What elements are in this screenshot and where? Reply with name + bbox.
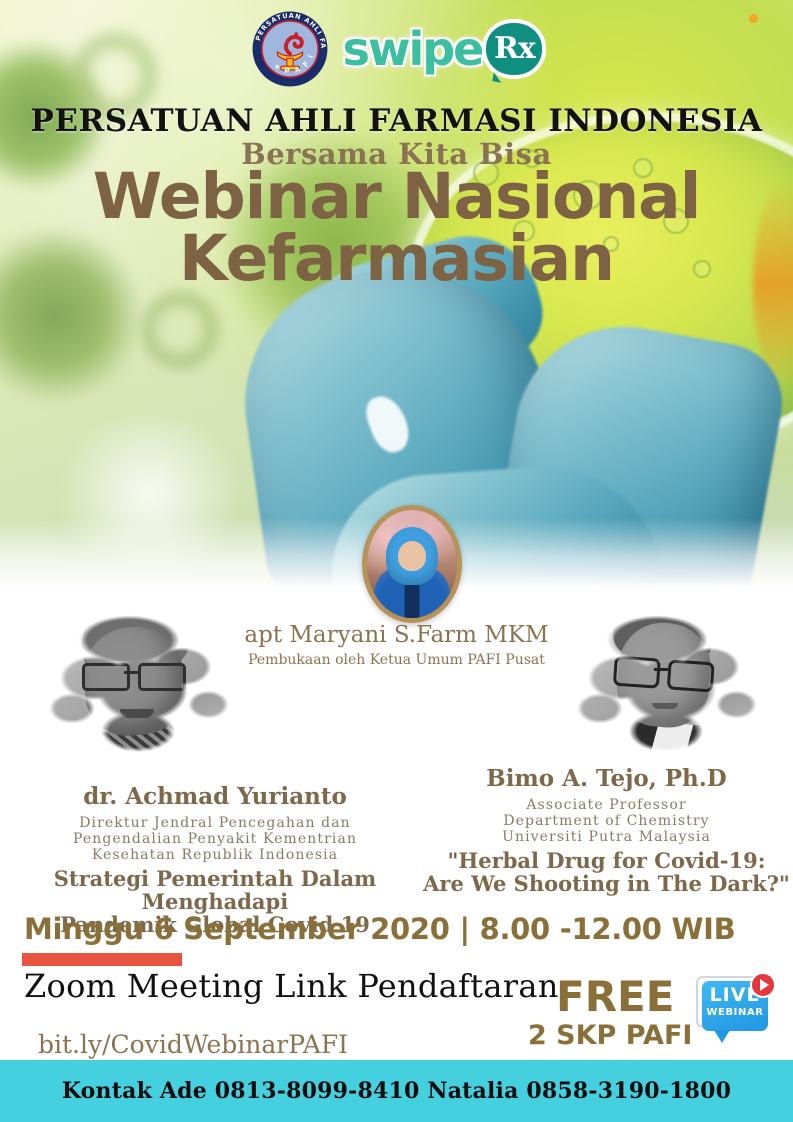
speaker-portrait-achmad-yurianto [28, 583, 248, 773]
brush-mask [556, 583, 776, 773]
speaker-info-right: Bimo A. Tejo, Ph.D Associate Professor D… [420, 765, 793, 895]
event-datetime: Minggu 6 September 2020 | 8.00 -12.00 WI… [24, 912, 735, 946]
main-title-line-2: Kefarmasian [0, 228, 793, 290]
glasses-bridge [124, 671, 140, 674]
page-title: Webinar Nasional Kefarmasian [0, 166, 793, 291]
topic-line: Are We Shooting in The Dark?" [420, 872, 793, 895]
topic-line: Strategi Pemerintah Dalam Menghadapi [0, 867, 430, 913]
speaker-name: dr. Achmad Yurianto [0, 783, 430, 810]
bacteria-blob-icon [140, 290, 220, 370]
live-badge-bottom-label: WEBINAR [702, 1008, 768, 1018]
glasses-icon [82, 663, 186, 685]
speaker-affiliation: Associate Professor Department of Chemis… [420, 797, 793, 846]
glasses-bridge [654, 668, 668, 671]
brush-mask [28, 583, 248, 773]
registration-link[interactable]: bit.ly/CovidWebinarPAFI [38, 1030, 348, 1059]
webinar-poster: PERSATUAN AHLI FARMASI INDONESIA ★ P A F… [0, 0, 793, 1122]
swipe-wordmark: swipe [343, 26, 483, 72]
free-badge: FREE [556, 972, 674, 1021]
contact-text: Kontak Ade 0813-8099-8410 Natalia 0858-3… [62, 1078, 731, 1104]
speaker-portrait-bimo-tejo [556, 583, 776, 773]
moderator-hijab [386, 527, 438, 585]
speaker-mouth [120, 709, 154, 718]
affiliation-line: Department of Chemistry [420, 813, 793, 829]
red-accent-bar [22, 953, 182, 966]
rx-label: Rx [494, 34, 535, 64]
topic-line: "Herbal Drug for Covid-19: [420, 849, 793, 872]
speaker-mouth [652, 703, 678, 709]
live-webinar-badge-icon: LIVE WEBINAR [692, 972, 778, 1046]
pafi-logo-icon: PERSATUAN AHLI FARMASI INDONESIA ★ P A F… [251, 10, 329, 88]
affiliation-line: Kesehatan Republik Indonesia [0, 847, 430, 863]
affiliation-line: Pengendalian Penyakit Kementrian [0, 831, 430, 847]
organization-title: PERSATUAN AHLI FARMASI INDONESIA [0, 103, 793, 139]
affiliation-line: Associate Professor [420, 797, 793, 813]
speaker-topic: "Herbal Drug for Covid-19: Are We Shooti… [420, 849, 793, 895]
contact-band: Kontak Ade 0813-8099-8410 Natalia 0858-3… [0, 1060, 793, 1122]
swipe-i-dot [749, 14, 758, 23]
skp-badge: 2 SKP PAFI [528, 1020, 692, 1051]
play-button-icon [750, 972, 776, 998]
speaker-name: Bimo A. Tejo, Ph.D [420, 765, 793, 792]
rx-speech-bubble-icon: Rx [486, 23, 542, 75]
moderator-avatar [362, 505, 462, 623]
live-badge-tail [714, 1030, 730, 1043]
affiliation-line: Universiti Putra Malaysia [420, 829, 793, 845]
affiliation-line: Direktur Jendral Pencegahan dan [0, 815, 430, 831]
speaker-affiliation: Direktur Jendral Pencegahan dan Pengenda… [0, 815, 430, 864]
zoom-registration-label: Zoom Meeting Link Pendaftaran [24, 967, 559, 1005]
logo-row: PERSATUAN AHLI FARMASI INDONESIA ★ P A F… [0, 10, 793, 88]
swiperx-logo: swipe Rx [343, 23, 543, 75]
